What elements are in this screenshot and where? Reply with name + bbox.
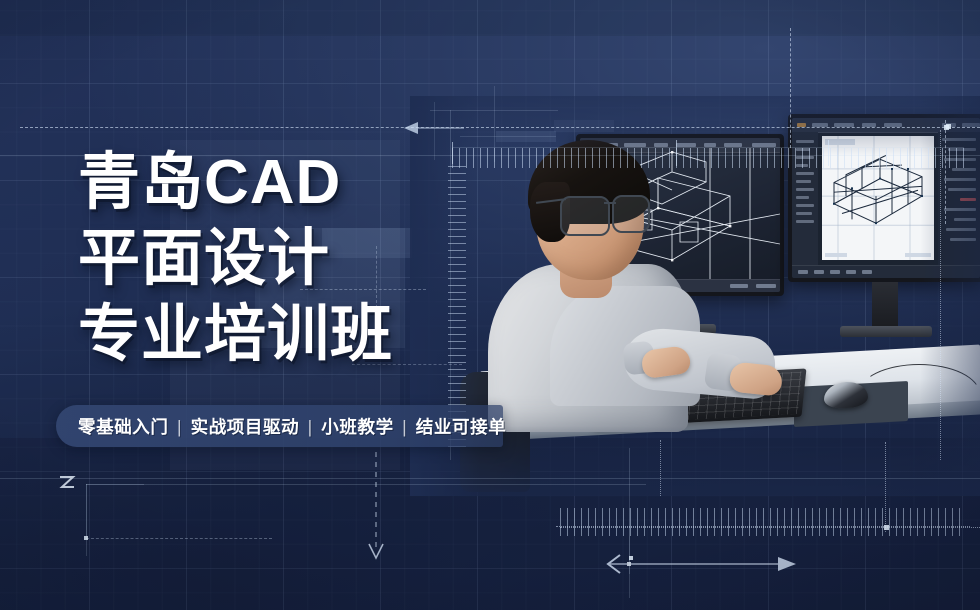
vignette-overlay — [0, 0, 980, 610]
banner-canvas: 青岛CAD 平面设计 专业培训班 零基础入门 | 实战项目驱动 | 小班教学 |… — [0, 0, 980, 610]
